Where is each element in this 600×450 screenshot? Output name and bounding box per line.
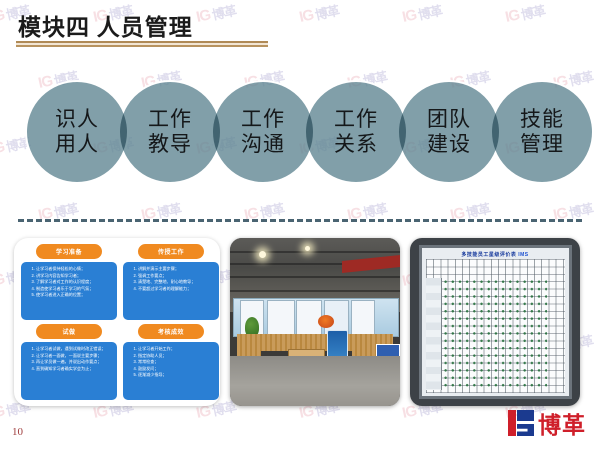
watermark-mark-icon: IG	[0, 270, 6, 290]
topic-circle-2[interactable]: 工作教导	[118, 80, 222, 184]
twi-step-2: 传授工作讲解并演示主要步骤；强调工作要点；清楚地、完整地、耐心地教导；不要超过学…	[123, 244, 219, 320]
photo-beam	[230, 276, 400, 278]
watermark-text: 博革	[210, 0, 237, 24]
watermark: IG博革	[503, 0, 546, 27]
watermark: IG博革	[194, 0, 237, 27]
rule-line-bottom	[16, 45, 268, 47]
photo-bulletin-board	[267, 300, 295, 336]
watermark-mark-icon: IG	[504, 6, 521, 26]
twi-step-item: 常常检查；	[138, 359, 215, 366]
twi-step-body: 讲解并演示主要步骤；强调工作要点；清楚地、完整地、耐心地教导；不要超过学习者的理…	[123, 262, 219, 320]
logo-text: 博革	[538, 406, 586, 440]
watermark-text: 博革	[519, 0, 546, 24]
matrix-board-title-text: 多技能员工星级评价表	[461, 252, 516, 258]
twi-step-item: 逐渐减少指导；	[138, 372, 215, 379]
matrix-board-code: IMS	[518, 252, 528, 258]
topic-circle-5[interactable]: 团队建设	[397, 80, 501, 184]
watermark: IG博革	[297, 0, 340, 27]
twi-step-item: 讲解并演示主要步骤；	[138, 266, 215, 273]
skill-matrix-board-photo: 多技能员工星级评价表 IMS	[410, 238, 580, 406]
matrix-row-labels	[426, 278, 442, 391]
twi-step-body: 让学习者试做，遇到试做时改正错误；让学习者一面做，一面说主要步骤；再让学员做一遍…	[21, 342, 117, 400]
topic-circle-label-line2: 建设	[427, 132, 471, 157]
watermark-mark-icon: IG	[195, 6, 212, 26]
topic-circle-label-line1: 工作	[334, 107, 378, 132]
twi-step-header: 学习准备	[36, 244, 102, 259]
twi-four-step-card: 学习准备让学习者保持轻松的心情；讲学习内容告知学习者；了解学习者对工作的认识程度…	[14, 238, 220, 406]
topic-circle-6[interactable]: 技能管理	[490, 80, 594, 184]
logo-bar	[508, 410, 516, 436]
twi-step-item: 清楚地、完整地、耐心地教导；	[138, 279, 215, 286]
page-number: 10	[12, 426, 23, 438]
watermark-text: 博革	[416, 0, 443, 24]
twi-step-item: 再让学员做一遍，并说出动作要点；	[36, 359, 113, 366]
twi-step-item: 让学习者保持轻松的心情；	[36, 266, 113, 273]
twi-step-1: 学习准备让学习者保持轻松的心情；讲学习内容告知学习者；了解学习者对工作的认识程度…	[21, 244, 117, 320]
watermark-mark-icon: IG	[0, 402, 6, 422]
twi-step-header: 考核成效	[138, 324, 204, 339]
topic-circle-label-line2: 用人	[55, 132, 99, 157]
topic-circle-label-line1: 团队	[427, 107, 471, 132]
twi-step-item: 让学习者试做，遇到试做时改正错误；	[36, 346, 113, 353]
twi-step-body: 让学习者保持轻松的心情；讲学习内容告知学习者；了解学习者对工作的认识程度；制造使…	[21, 262, 117, 320]
topic-circle-3[interactable]: 工作沟通	[211, 80, 315, 184]
twi-step-header: 传授工作	[138, 244, 204, 259]
topic-circle-label-line1: 识人	[55, 107, 99, 132]
photo-floor	[230, 356, 400, 406]
topic-circle-label-line1: 工作	[148, 107, 192, 132]
twi-step-header: 试做	[36, 324, 102, 339]
watermark-text: 博革	[313, 0, 340, 24]
topic-circle-label-line2: 关系	[334, 132, 378, 157]
topic-circle-label-line2: 沟通	[241, 132, 285, 157]
matrix-board-frame: 多技能员工星级评价表 IMS	[419, 245, 572, 400]
matrix-board-title: 多技能员工星级评价表 IMS	[426, 251, 565, 258]
topic-circle-label-line1: 工作	[241, 107, 285, 132]
bottom-content-row: 学习准备让学习者保持轻松的心情；讲学习内容告知学习者；了解学习者对工作的认识程度…	[14, 238, 586, 408]
watermark: IG博革	[400, 0, 443, 27]
watermark-mark-icon: IG	[298, 6, 315, 26]
topic-circle-1[interactable]: 识人用人	[25, 80, 129, 184]
company-logo: 博革	[508, 406, 586, 440]
topic-circle-label-line1: 技能	[520, 107, 564, 132]
topic-circles-row: 识人用人工作教导工作沟通工作关系团队建设技能管理	[0, 78, 600, 188]
twi-step-item: 不要超过学习者的理解能力；	[138, 286, 215, 293]
twi-step-item: 让学习者开始工作；	[138, 346, 215, 353]
watermark-mark-icon: IG	[0, 6, 6, 26]
twi-step-4: 考核成效让学习者开始工作；指定协助人员；常常检查；鼓励发问；逐渐减少指导；	[123, 324, 219, 400]
topic-circle-label-line2: 教导	[148, 132, 192, 157]
twi-step-body: 让学习者开始工作；指定协助人员；常常检查；鼓励发问；逐渐减少指导；	[123, 342, 219, 400]
twi-step-item: 了解学习者对工作的认识程度；	[36, 279, 113, 286]
topic-circle-4[interactable]: 工作关系	[304, 80, 408, 184]
topic-circle-label-line2: 管理	[520, 132, 564, 157]
photo-beam	[230, 290, 400, 292]
factory-display-booth-photo	[230, 238, 400, 406]
page-title: 模块四 人员管理	[18, 8, 193, 42]
twi-step-item: 直到确知学习者确实学会为止；	[36, 366, 113, 373]
page-title-wrap: 模块四 人员管理	[18, 8, 193, 42]
twi-step-item: 使学习者进入正确的位置；	[36, 292, 113, 299]
logo-g-shape	[517, 410, 534, 436]
logo-mark-icon	[508, 410, 534, 436]
twi-step-3: 试做让学习者试做，遇到试做时改正错误；让学习者一面做，一面说主要步骤；再让学员做…	[21, 324, 117, 400]
photo-beam	[230, 251, 400, 253]
dashed-divider	[18, 219, 582, 222]
title-underline-rule	[16, 41, 268, 47]
matrix-star-dots	[442, 278, 547, 391]
watermark-mark-icon: IG	[401, 6, 418, 26]
photo-bulletin-board	[351, 300, 375, 336]
